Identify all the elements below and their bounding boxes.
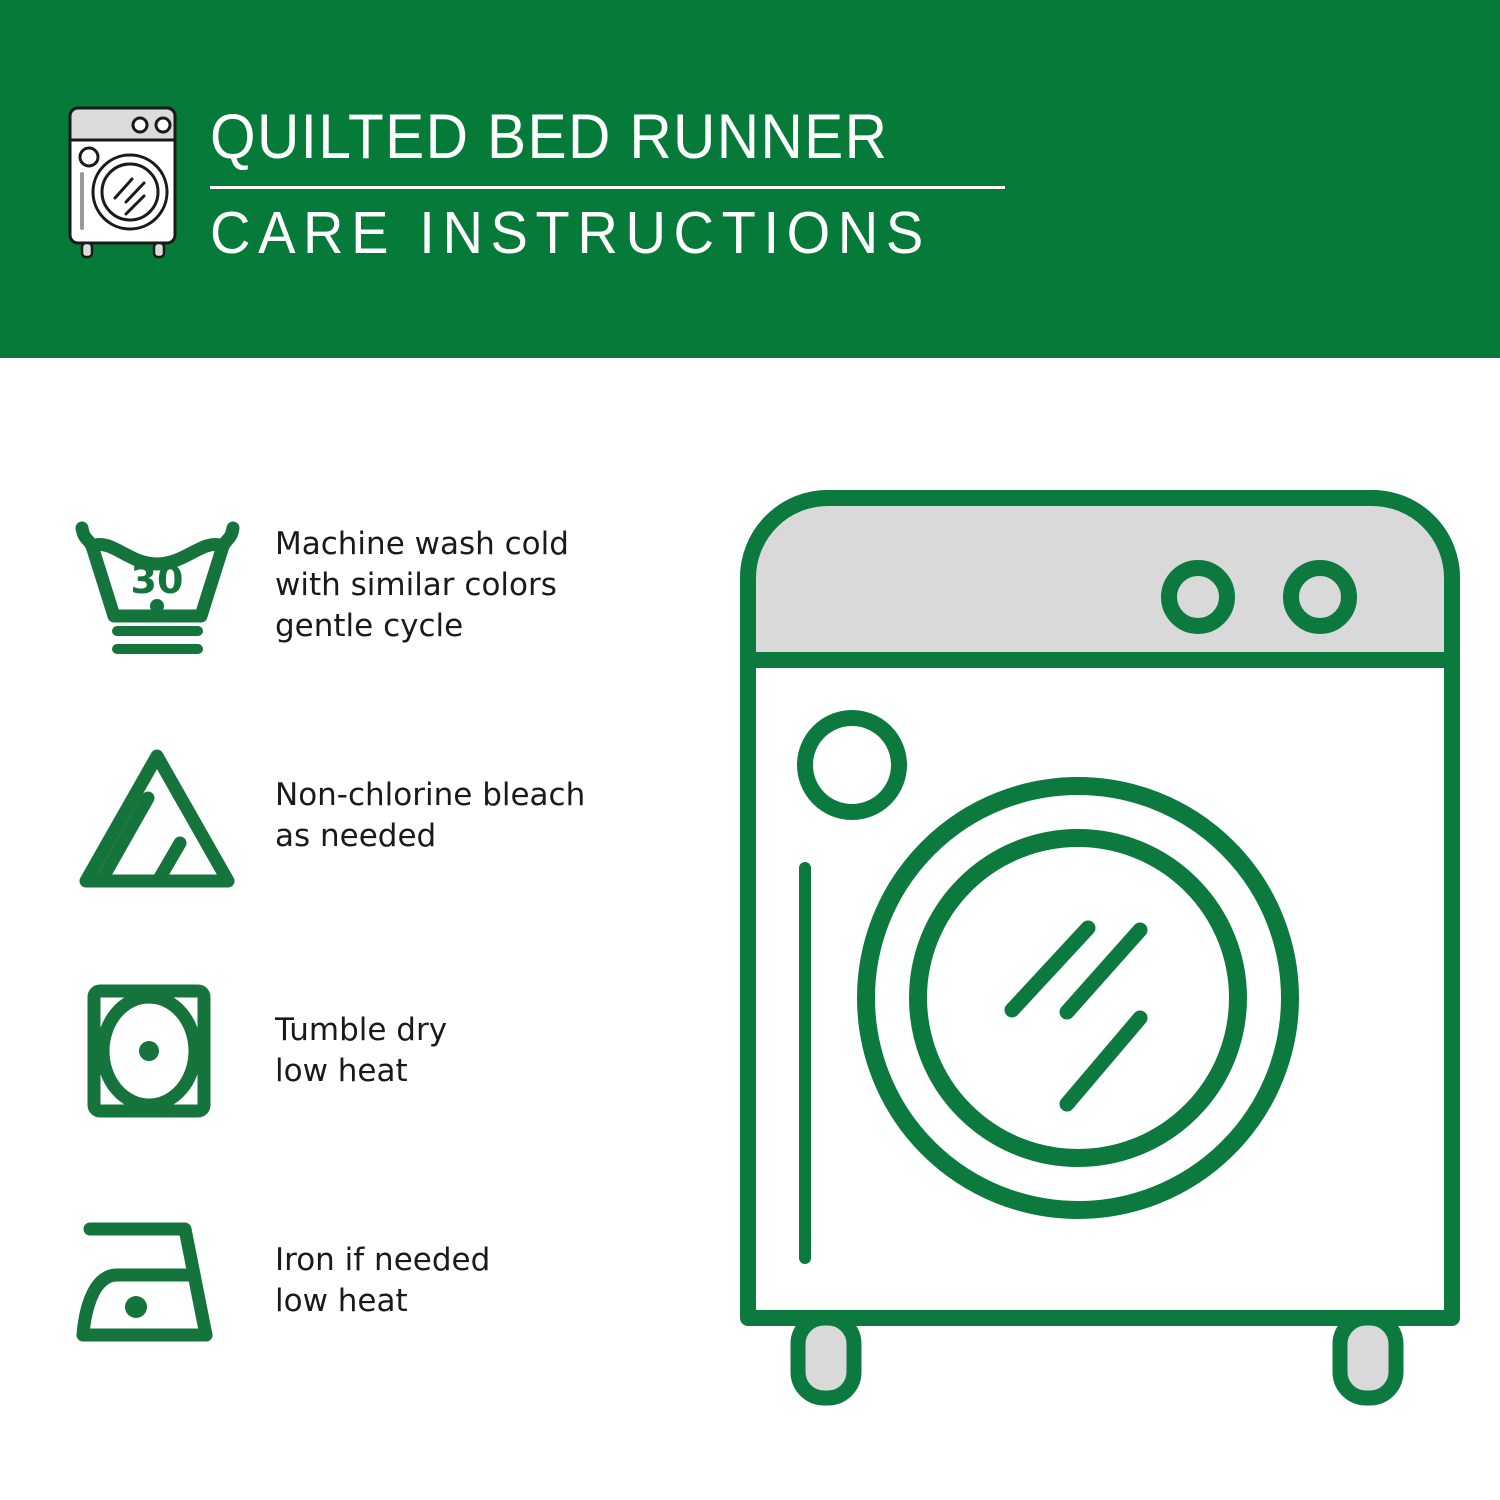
washing-machine-icon: [60, 100, 185, 260]
care-item-iron: Iron if needed low heat: [70, 1203, 690, 1358]
page-title: QUILTED BED RUNNER: [210, 102, 949, 172]
care-item-label: Iron if needed low heat: [275, 1240, 490, 1322]
header-content: QUILTED BED RUNNER CARE INSTRUCTIONS: [60, 100, 1005, 265]
control-knob-right: [1291, 568, 1349, 626]
machine-leg-left: [798, 1318, 854, 1398]
care-item-label: Non-chlorine bleach as needed: [275, 775, 585, 857]
non-chlorine-bleach-triangle-icon: [70, 738, 245, 893]
header-title-group: QUILTED BED RUNNER CARE INSTRUCTIONS: [210, 100, 1005, 265]
front-load-washing-machine-illustration: [740, 490, 1460, 1420]
page-subtitle: CARE INSTRUCTIONS: [210, 201, 965, 265]
care-item-tumble-dry: Tumble dry low heat: [70, 973, 690, 1128]
care-item-label: Tumble dry low heat: [275, 1010, 447, 1092]
wash-temperature-label: 30: [131, 558, 184, 602]
care-item-machine-wash: 30 Machine wash cold with similar colors…: [70, 508, 690, 663]
care-instruction-list: 30 Machine wash cold with similar colors…: [0, 358, 700, 1500]
wash-tub-30-icon: 30: [70, 508, 245, 663]
indicator-light: [805, 718, 899, 812]
header-band: QUILTED BED RUNNER CARE INSTRUCTIONS: [0, 0, 1500, 358]
iron-low-heat-icon: [70, 1203, 245, 1358]
care-item-bleach: Non-chlorine bleach as needed: [70, 738, 690, 893]
control-knob-left: [1169, 568, 1227, 626]
care-item-label: Machine wash cold with similar colors ge…: [275, 524, 569, 647]
title-divider: [210, 186, 1005, 189]
tumble-dry-low-icon: [70, 973, 245, 1128]
machine-leg-right: [1340, 1318, 1396, 1398]
